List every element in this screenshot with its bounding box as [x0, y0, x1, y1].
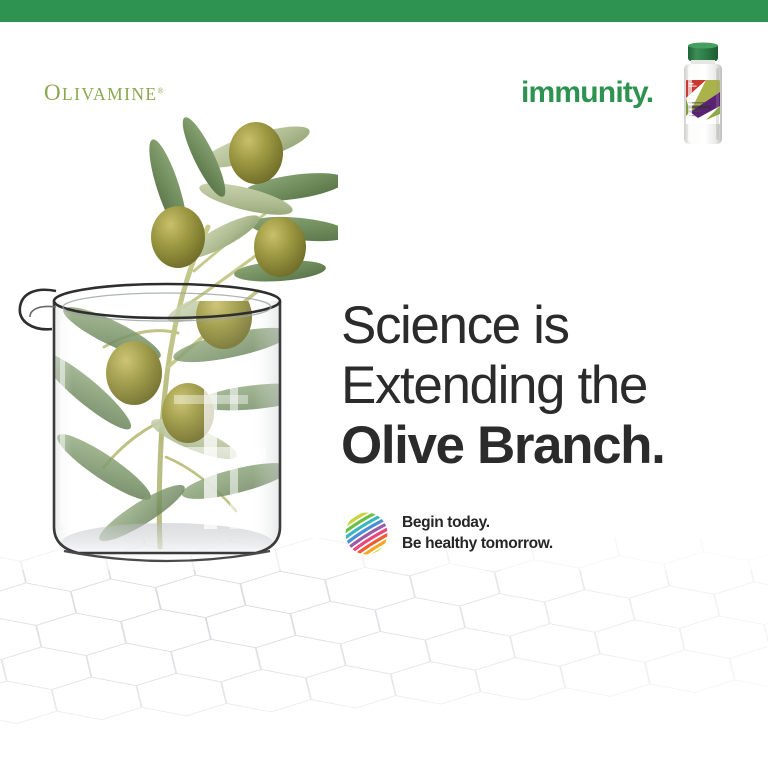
olivamine-brand-wordmark: OLIVAMINE® [44, 80, 164, 106]
tagline-block: Begin today. Be healthy tomorrow. [344, 511, 553, 556]
beaker-with-olive-branch-artwork [8, 95, 338, 660]
registered-trademark-icon: ® [157, 87, 163, 96]
laboratory-beaker [20, 284, 280, 563]
top-accent-bar [0, 0, 768, 22]
supplement-bottle-image [676, 42, 730, 150]
tagline-line-1: Begin today. [402, 513, 553, 534]
brand-name: LIVAMINE [62, 84, 157, 104]
tagline-line-2: Be healthy tomorrow. [402, 534, 553, 555]
headline-line-1: Science is [341, 296, 741, 356]
headline-line-3: Olive Branch. [341, 416, 741, 476]
headline-line-2: Extending the [341, 356, 741, 416]
headline: Science is Extending the Olive Branch. [341, 296, 741, 476]
olive-fruit [229, 122, 283, 184]
immunity-product-line-label: immunity. [521, 78, 653, 108]
tagline-text: Begin today. Be healthy tomorrow. [402, 513, 553, 554]
advertisement-canvas: OLIVAMINE® immunity. [0, 0, 768, 768]
brand-initial: O [44, 80, 62, 105]
rainbow-sphere-logo-icon [344, 511, 389, 556]
olive-fruit [254, 217, 306, 277]
olive-fruit [151, 206, 205, 268]
